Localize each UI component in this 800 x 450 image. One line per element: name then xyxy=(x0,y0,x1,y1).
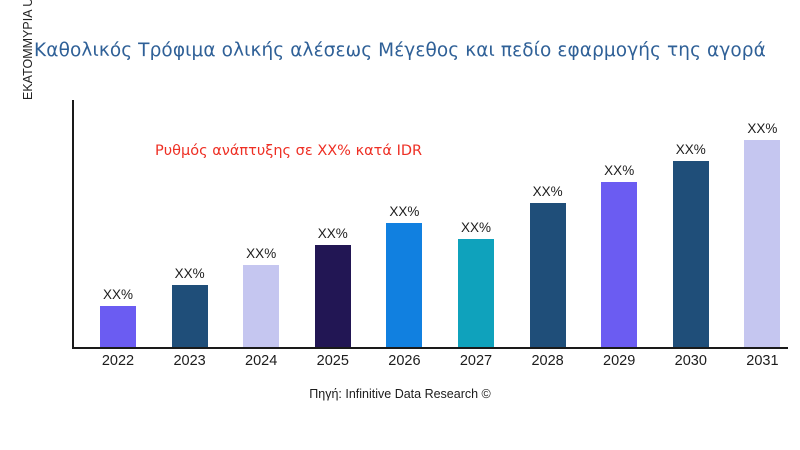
bar-2030[interactable]: XX% xyxy=(673,161,709,347)
bar-rect xyxy=(386,223,422,347)
bar-2031[interactable]: XX% xyxy=(744,140,780,347)
bar-value-label: XX% xyxy=(389,204,419,219)
bar-2022[interactable]: XX% xyxy=(100,306,136,347)
bar-rect xyxy=(243,265,279,347)
bar-rect xyxy=(673,161,709,347)
y-axis-title: ΕΚΑΤΟΜΜΥΡΙΑ USD xyxy=(21,0,41,100)
x-tick-2031: 2031 xyxy=(746,353,778,369)
bar-2029[interactable]: XX% xyxy=(601,182,637,347)
bar-value-label: XX% xyxy=(246,246,276,261)
x-axis-line xyxy=(72,347,788,349)
bar-value-label: XX% xyxy=(103,287,133,302)
bar-2028[interactable]: XX% xyxy=(530,203,566,347)
x-tick-2022: 2022 xyxy=(102,353,134,369)
x-tick-2030: 2030 xyxy=(675,353,707,369)
x-tick-2024: 2024 xyxy=(245,353,277,369)
bar-rect xyxy=(172,285,208,347)
x-axis-tick-labels: 2022202320242025202620272028202920302031 xyxy=(72,353,788,377)
bar-2024[interactable]: XX% xyxy=(243,265,279,347)
bar-value-label: XX% xyxy=(461,220,491,235)
x-tick-2027: 2027 xyxy=(460,353,492,369)
bar-value-label: XX% xyxy=(533,184,563,199)
x-tick-2028: 2028 xyxy=(531,353,563,369)
x-tick-2029: 2029 xyxy=(603,353,635,369)
bar-rect xyxy=(530,203,566,347)
bar-value-label: XX% xyxy=(676,142,706,157)
bar-2026[interactable]: XX% xyxy=(386,223,422,347)
bar-rect xyxy=(315,245,351,347)
bar-value-label: XX% xyxy=(175,266,205,281)
bar-series: XX%XX%XX%XX%XX%XX%XX%XX%XX%XX% xyxy=(72,100,788,347)
source-caption: Πηγή: Infinitive Data Research © xyxy=(0,387,800,401)
bar-rect xyxy=(458,239,494,347)
x-tick-2023: 2023 xyxy=(173,353,205,369)
bar-rect xyxy=(100,306,136,347)
bar-rect xyxy=(744,140,780,347)
x-tick-2025: 2025 xyxy=(317,353,349,369)
bar-chart-figure: Καθολικός Τρόφιμα ολικής αλέσεως Μέγεθος… xyxy=(0,0,800,450)
chart-title: Καθολικός Τρόφιμα ολικής αλέσεως Μέγεθος… xyxy=(0,36,800,66)
x-tick-2026: 2026 xyxy=(388,353,420,369)
bar-value-label: XX% xyxy=(747,121,777,136)
bar-2027[interactable]: XX% xyxy=(458,239,494,347)
bar-value-label: XX% xyxy=(604,163,634,178)
bar-2025[interactable]: XX% xyxy=(315,245,351,347)
bar-rect xyxy=(601,182,637,347)
plot-area: Ρυθμός ανάπτυξης σε XX% κατά IDR XX%XX%X… xyxy=(72,100,788,349)
bar-2023[interactable]: XX% xyxy=(172,285,208,347)
bar-value-label: XX% xyxy=(318,226,348,241)
